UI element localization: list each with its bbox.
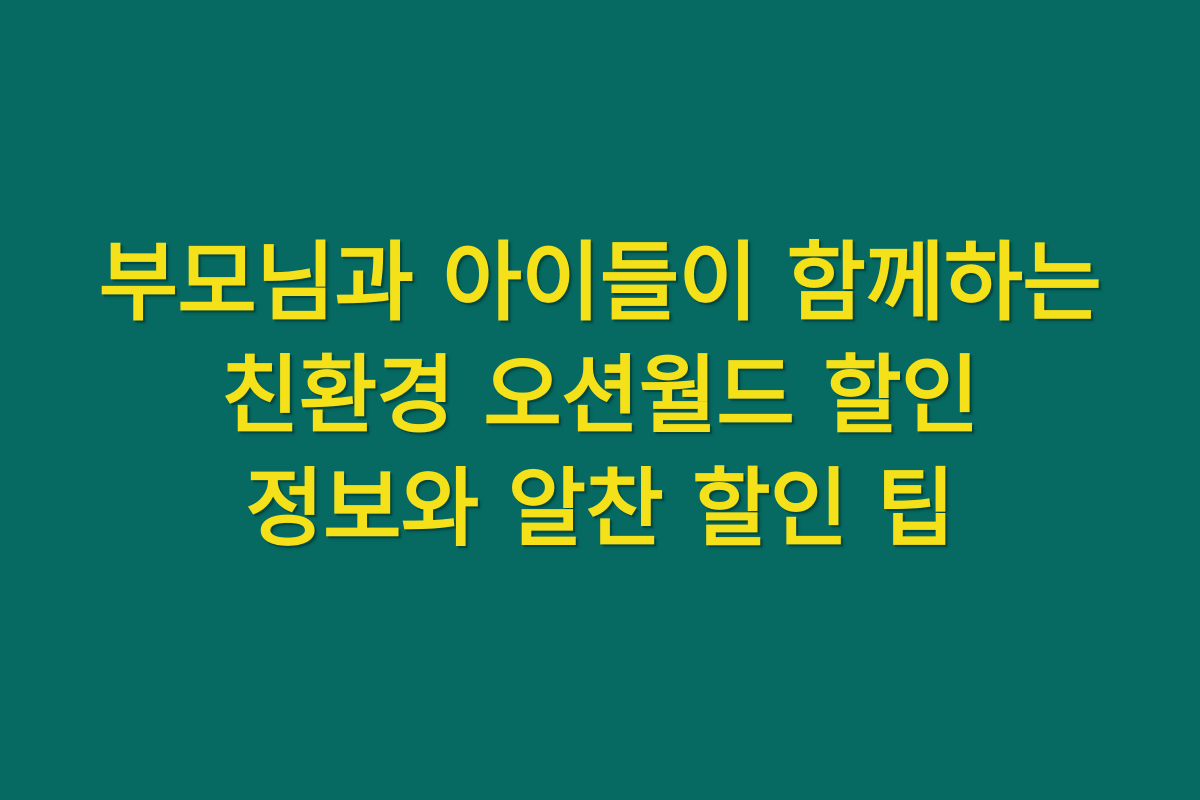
- headline: 부모님과 아이들이 함께하는 친환경 오션월드 할인 정보와 알찬 할인 팁: [20, 227, 1180, 574]
- thumbnail-banner: 부모님과 아이들이 함께하는 친환경 오션월드 할인 정보와 알찬 할인 팁: [0, 0, 1200, 800]
- headline-line-1: 부모님과 아이들이 함께하는: [20, 227, 1180, 340]
- headline-line-2: 친환경 오션월드 할인: [20, 340, 1180, 453]
- headline-line-3: 정보와 알찬 할인 팁: [20, 453, 1180, 566]
